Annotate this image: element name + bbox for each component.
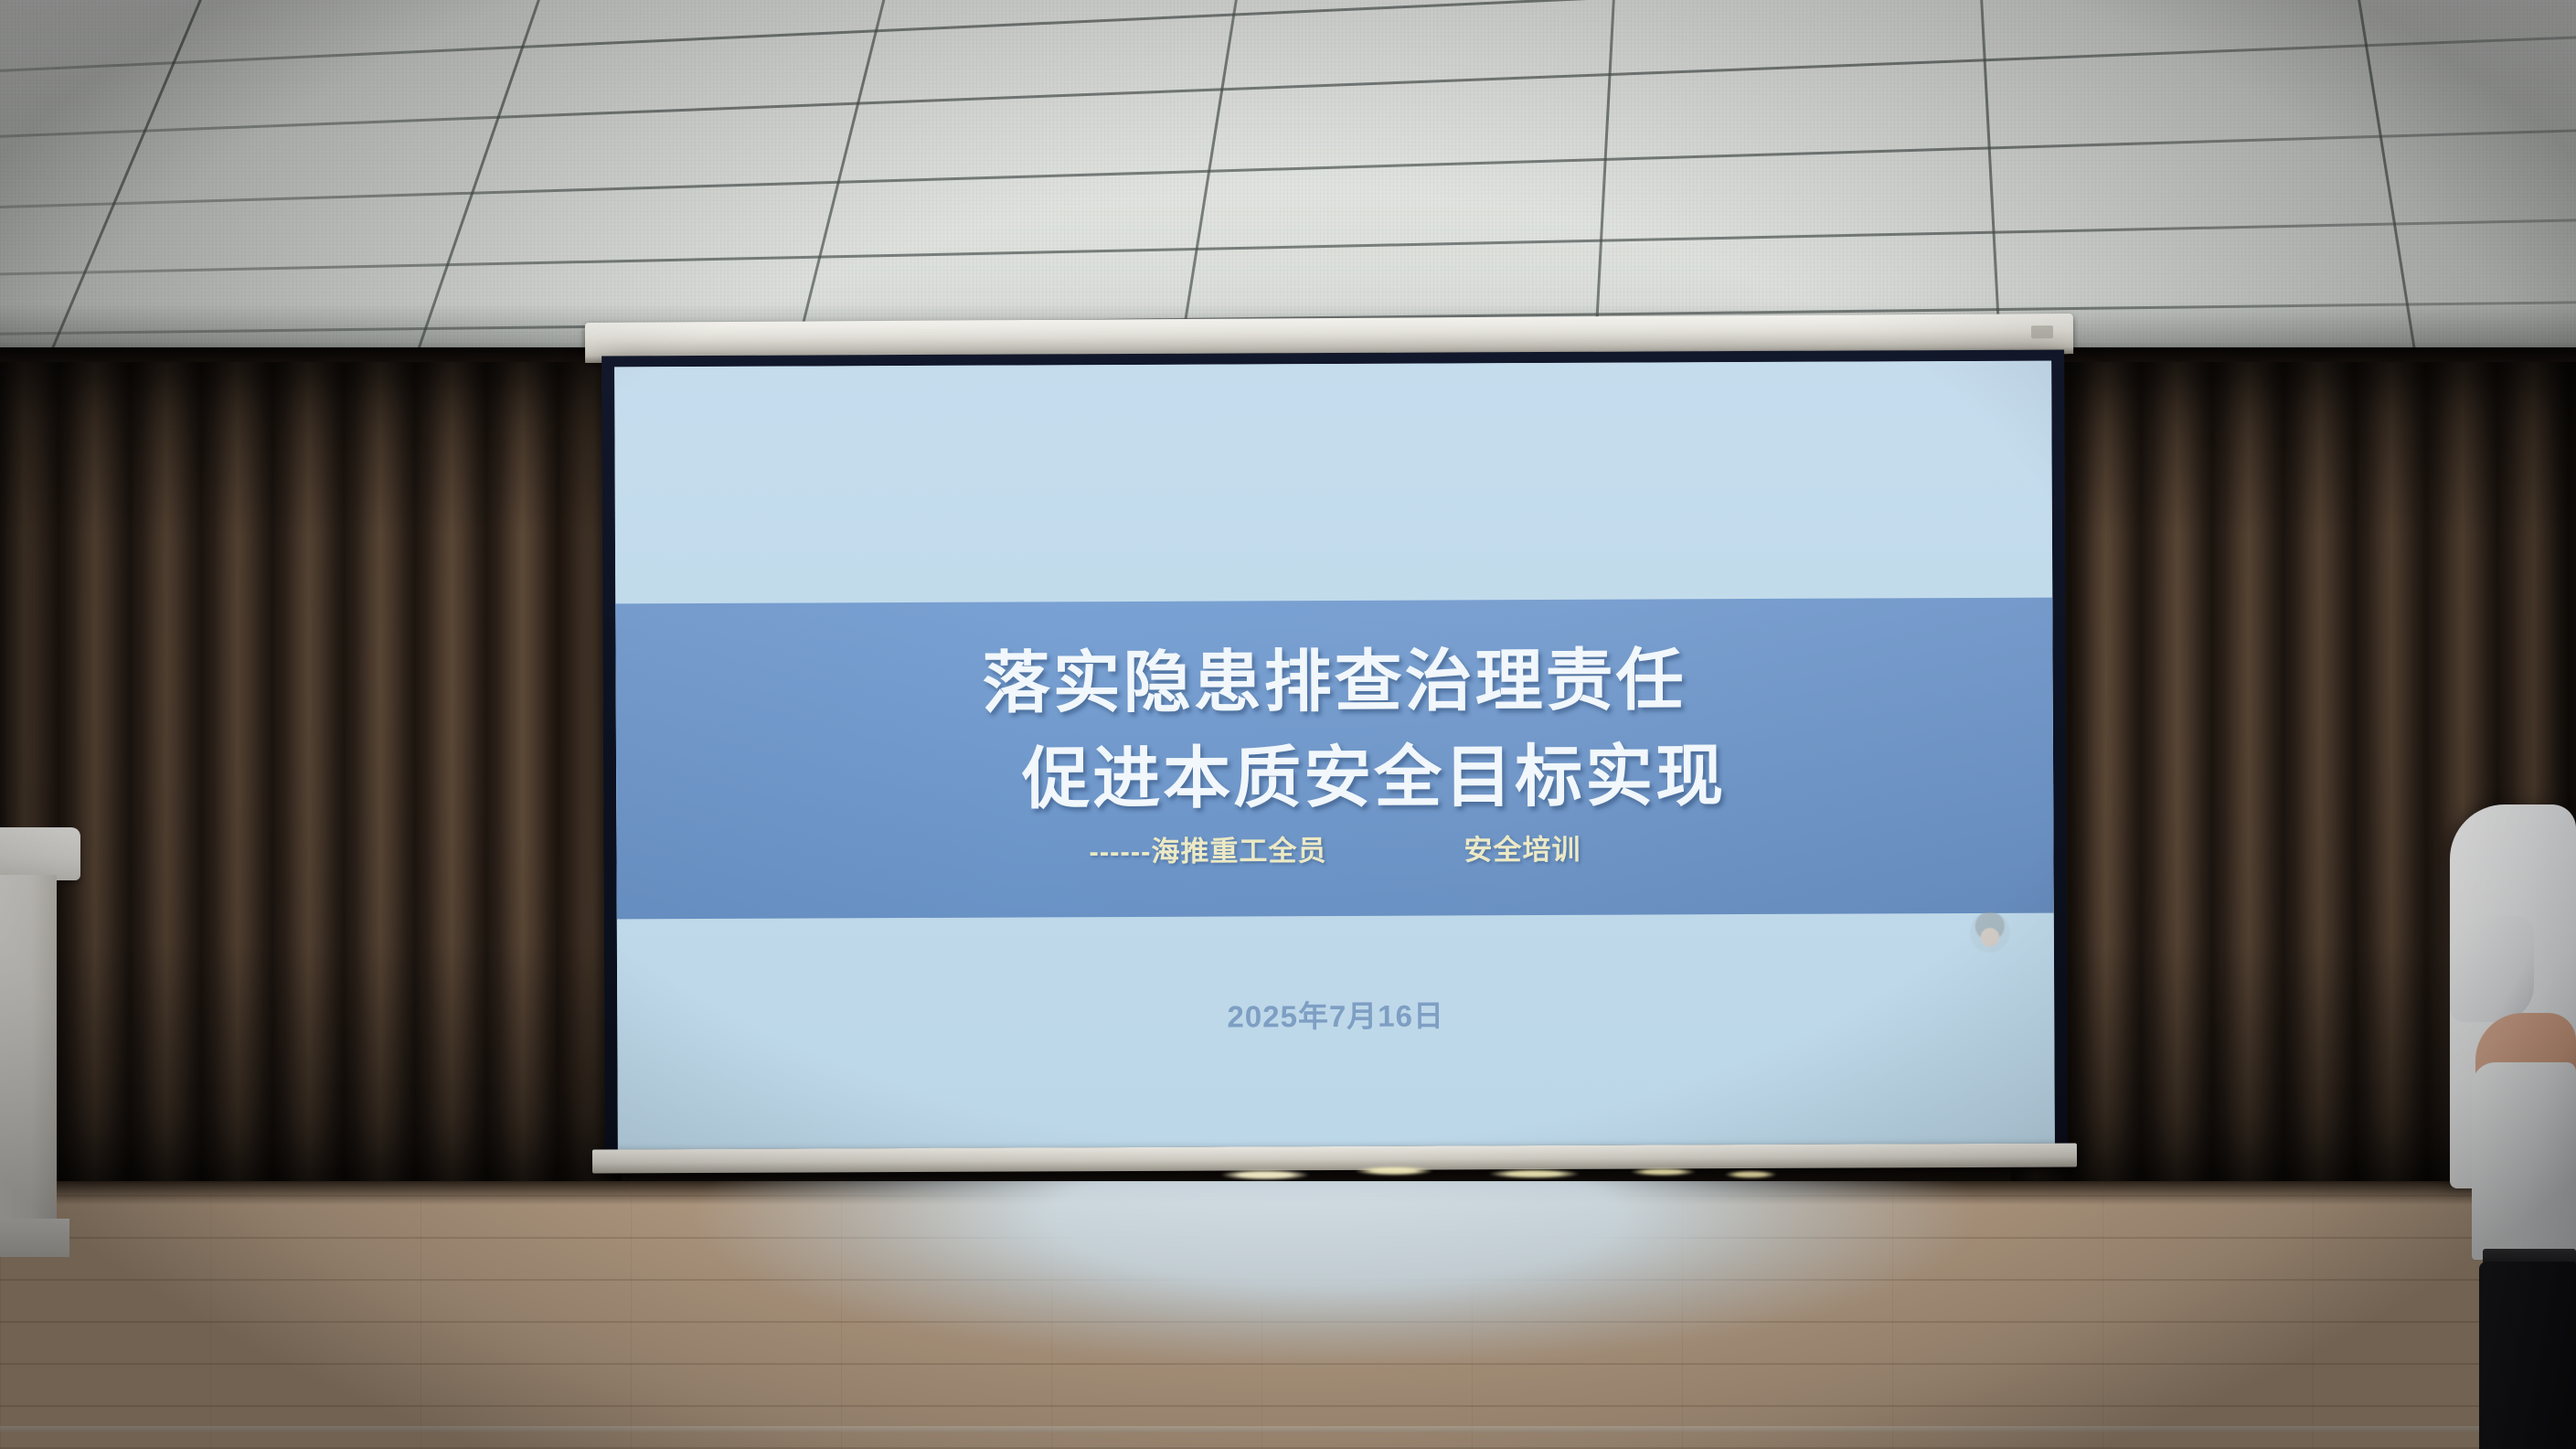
person-shirt-front [2472,1062,2576,1260]
slide-subtitle-topic: 安全培训 [1464,834,1581,867]
housing-brand-badge [2031,325,2053,338]
presentation-slide: 落实隐患排查治理责任 促进本质安全目标实现 ------海推重工全员安全培训 2… [614,361,2055,1150]
lectern-base [0,1219,69,1257]
suspended-tile-ceiling [0,0,2576,358]
light-reflection [1207,1163,1792,1183]
person-trousers [2479,1262,2576,1449]
slide-subtitle: ------海推重工全员安全培训 [616,824,2053,871]
slide-title-line-2: 促进本质安全目标实现 [616,727,2053,829]
floor-edge-trim [0,1426,2576,1433]
standing-person [2443,804,2576,1449]
projection-screen: 落实隐患排查治理责任 促进本质安全目标实现 ------海推重工全员安全培训 2… [601,350,2068,1161]
lectern-top [0,827,80,880]
slide-date: 2025年7月16日 [617,988,2054,1039]
slide-title: 落实隐患排查治理责任 促进本质安全目标实现 [615,631,2053,829]
wood-plank-floor [0,1181,2576,1449]
conference-room-scene: 落实隐患排查治理责任 促进本质安全目标实现 ------海推重工全员安全培训 2… [0,0,2576,1449]
person-sleeve [2450,916,2534,1022]
slide-title-line-1: 落实隐患排查治理责任 [982,643,1686,721]
stage-curtain-left [0,347,622,1198]
presenter-avatar-watermark [1970,912,2010,953]
curtain-rod [2011,347,2576,362]
slide-subtitle-organization: ------海推重工全员 [1089,834,1464,868]
lectern [0,827,80,1257]
projector-floor-glow [585,1181,2084,1401]
curtain-rod [0,347,622,362]
screen-surface: 落实隐患排查治理责任 促进本质安全目标实现 ------海推重工全员安全培训 2… [614,361,2055,1150]
lectern-body [0,875,57,1257]
